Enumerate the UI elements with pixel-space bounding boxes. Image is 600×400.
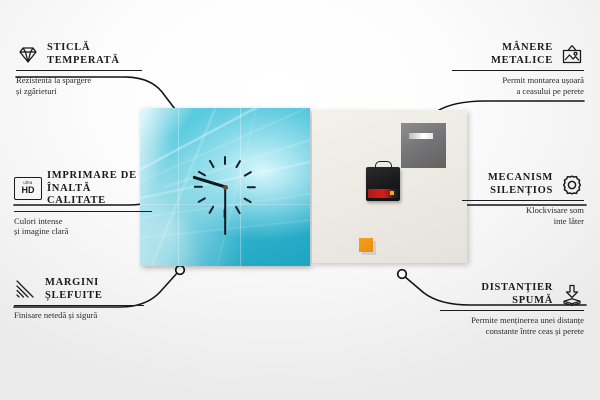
- clock-center-pin: [223, 185, 228, 190]
- foam-spacer: [359, 238, 373, 252]
- product-photo: [140, 108, 467, 268]
- battery: [368, 189, 398, 198]
- callout-title: MÂNERE METALICE: [491, 42, 553, 67]
- leader-dot-distantier-spuma: [398, 270, 407, 279]
- picture-hanger-icon: [560, 43, 584, 67]
- callout-subtitle: Rezistentă la spargere și zgârieturi: [16, 75, 142, 96]
- ultra-hd-icon: ultra HD: [14, 177, 40, 201]
- callout-imprimare-hd: ultra HD IMPRIMARE DE ÎNALTĂ CALITATE Cu…: [14, 170, 152, 237]
- callout-margini-slefuite: MARGINI ȘLEFUITE Finisare netedă și sigu…: [14, 277, 144, 321]
- callout-title: IMPRIMARE DE ÎNALTĂ CALITATE: [47, 170, 152, 208]
- arrow-down-layers-icon: [560, 283, 584, 307]
- callout-manere-metalice: MÂNERE METALICE Permit montarea ușoară a…: [452, 42, 584, 96]
- callout-subtitle: Culori intense și imagine clară: [14, 216, 152, 237]
- callout-title: MECANISM SILENȚIOS: [488, 172, 553, 197]
- hanger-loop: [375, 161, 392, 170]
- callout-mecanism-silentios: MECANISM SILENȚIOS Klockvisare som inte …: [462, 172, 584, 226]
- infographic-canvas: STICLĂ TEMPERATĂ Rezistentă la spargere …: [0, 0, 600, 400]
- callout-rule: [440, 310, 584, 311]
- clock-mechanism: [366, 167, 400, 201]
- callout-title: STICLĂ TEMPERATĂ: [47, 42, 120, 67]
- callout-subtitle: Permite menținerea unei distanțe constan…: [440, 315, 584, 336]
- metal-hanger-plate: [401, 123, 446, 168]
- callout-rule: [462, 200, 584, 201]
- beveled-edge-icon: [14, 278, 38, 302]
- diamond-icon: [16, 43, 40, 67]
- callout-rule: [16, 70, 142, 71]
- clock-back-panel: [312, 110, 467, 263]
- callout-subtitle: Permit montarea ușoară a ceasului pe per…: [452, 75, 584, 96]
- clock-minute-hand: [224, 187, 226, 235]
- callout-subtitle: Finisare netedă și sigură: [14, 310, 144, 321]
- callout-subtitle: Klockvisare som inte låter: [462, 205, 584, 226]
- callout-title: MARGINI ȘLEFUITE: [45, 277, 103, 302]
- callout-title: DISTANȚIER SPUMĂ: [481, 282, 553, 307]
- callout-rule: [452, 70, 584, 71]
- callout-distantier-spuma: DISTANȚIER SPUMĂ Permite menținerea unei…: [440, 282, 584, 336]
- gear-icon: [560, 173, 584, 197]
- callout-rule: [14, 305, 144, 306]
- callout-rule: [14, 211, 152, 212]
- callout-sticla-temperata: STICLĂ TEMPERATĂ Rezistentă la spargere …: [16, 42, 142, 96]
- ultra-hd-large-text: HD: [22, 186, 35, 195]
- glass-clock-face: [140, 108, 310, 266]
